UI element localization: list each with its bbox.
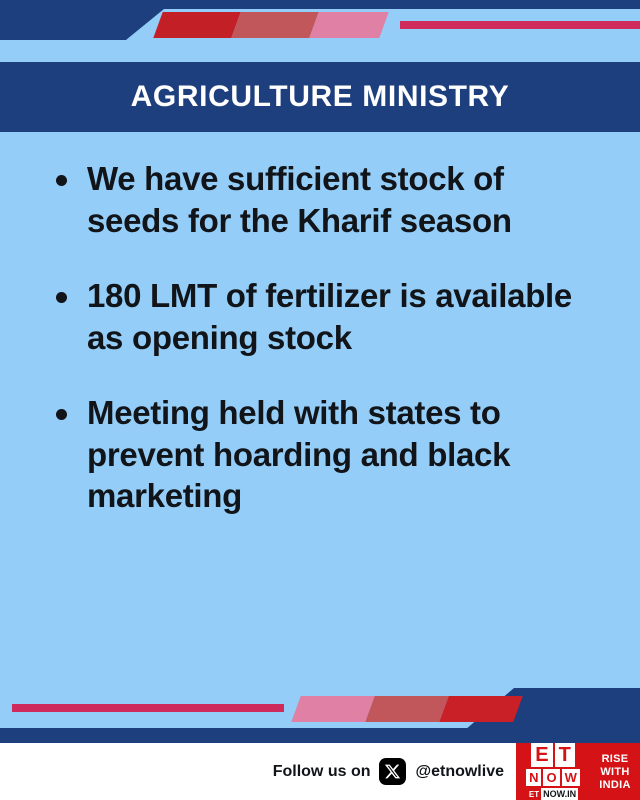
bullet-text: 180 LMT of fertilizer is available as op… xyxy=(87,275,572,358)
etnow-logo[interactable]: E T N O W ET NOW.IN RISE WITH INDIA xyxy=(516,743,640,800)
bottom-stripe-muted-red xyxy=(365,696,448,722)
bullet-dot-icon xyxy=(56,409,67,420)
tagline-line-1: RISE xyxy=(602,753,629,765)
news-graphic-card: AGRICULTURE MINISTRY We have sufficient … xyxy=(0,0,640,800)
bullet-text: Meeting held with states to prevent hoar… xyxy=(87,392,572,517)
follow-us-group: Follow us on @etnowlive xyxy=(273,758,504,785)
etnow-domain: ET NOW.IN xyxy=(528,788,578,800)
top-stripe-muted-red xyxy=(231,12,318,38)
follow-us-label: Follow us on xyxy=(273,763,371,781)
bottom-decoration-band xyxy=(0,688,640,743)
etnow-et-row: E T xyxy=(531,743,575,767)
bottom-stripe-red xyxy=(439,696,522,722)
etnow-letter-o: O xyxy=(543,769,559,786)
top-stripe-pink xyxy=(309,12,388,38)
tagline-line-3: INDIA xyxy=(599,779,630,791)
bottom-crimson-rule xyxy=(12,704,284,712)
etnow-domain-prefix: ET xyxy=(528,789,540,800)
etnow-letter-t: T xyxy=(555,743,575,767)
social-handle[interactable]: @etnowlive xyxy=(415,763,504,781)
bullet-dot-icon xyxy=(56,292,67,303)
top-navy-wedge xyxy=(0,0,175,40)
bottom-stripe-pink xyxy=(291,696,374,722)
etnow-letter-w: W xyxy=(562,769,580,786)
list-item: Meeting held with states to prevent hoar… xyxy=(56,392,600,517)
etnow-logo-mark: E T N O W ET NOW.IN xyxy=(516,743,590,800)
title-bar: AGRICULTURE MINISTRY xyxy=(0,62,640,132)
list-item: We have sufficient stock of seeds for th… xyxy=(56,158,600,241)
bullet-dot-icon xyxy=(56,175,67,186)
list-item: 180 LMT of fertilizer is available as op… xyxy=(56,275,600,358)
bullet-list: We have sufficient stock of seeds for th… xyxy=(0,132,640,688)
footer-bar: Follow us on @etnowlive E T N O W xyxy=(0,743,640,800)
top-crimson-rule xyxy=(400,21,640,29)
page-title: AGRICULTURE MINISTRY xyxy=(131,80,510,114)
x-twitter-icon[interactable] xyxy=(379,758,406,785)
etnow-now-row: N O W xyxy=(526,769,580,786)
top-decoration-band xyxy=(0,0,640,62)
etnow-tagline: RISE WITH INDIA xyxy=(590,743,640,800)
etnow-domain-rest: NOW.IN xyxy=(541,788,578,800)
tagline-line-2: WITH xyxy=(600,766,629,778)
etnow-letter-e: E xyxy=(531,743,552,767)
bullet-text: We have sufficient stock of seeds for th… xyxy=(87,158,572,241)
etnow-letter-n: N xyxy=(526,769,541,786)
top-stripe-red xyxy=(153,12,240,38)
bottom-navy-strip xyxy=(0,728,640,743)
